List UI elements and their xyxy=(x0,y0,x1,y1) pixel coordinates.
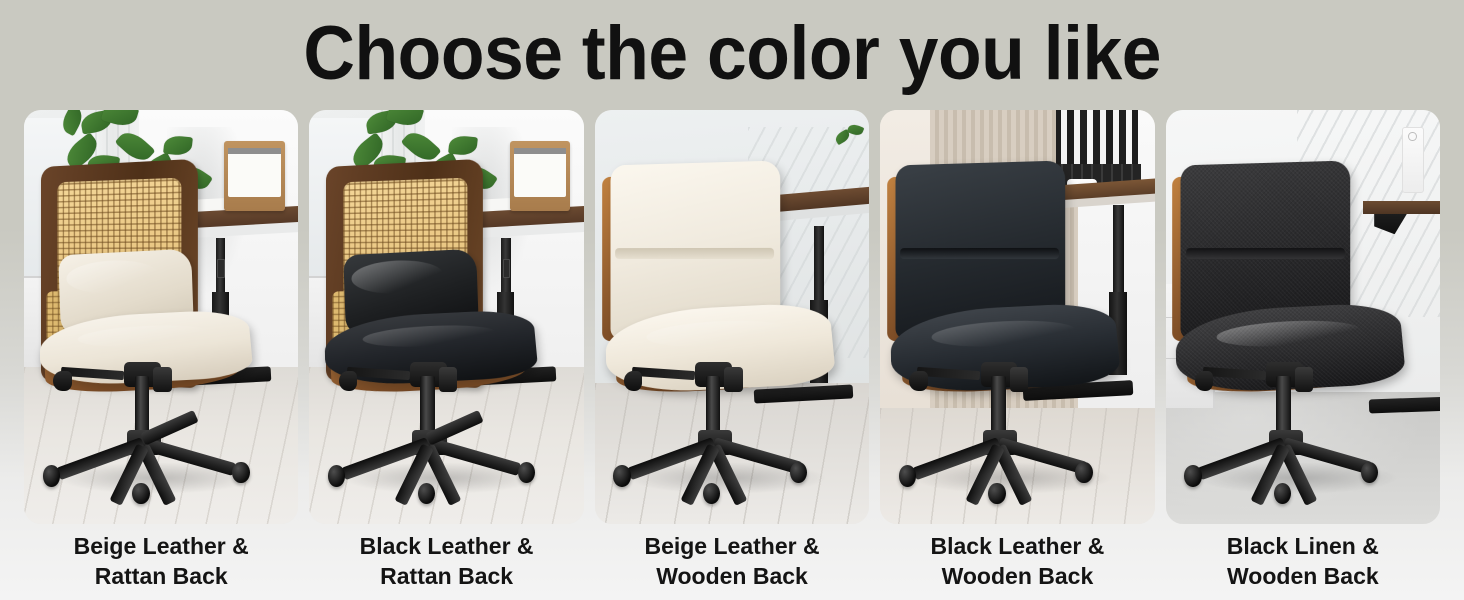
caption-line-1: Black Linen & xyxy=(1227,532,1379,560)
desk-calendar-bar xyxy=(228,148,280,154)
color-variant-grid: Beige Leather & Rattan Back xyxy=(24,110,1440,594)
product-photo-black-leather-rattan-back[interactable] xyxy=(309,110,583,524)
variant-card-black-leather-rattan-back[interactable]: Black Leather & Rattan Back xyxy=(309,110,583,594)
product-photo-beige-leather-wooden-back[interactable] xyxy=(595,110,869,524)
tilt-knob[interactable] xyxy=(439,367,457,392)
backrest-seam xyxy=(900,248,1059,259)
office-chair-black-leather-rattan-back[interactable] xyxy=(315,156,578,512)
chair-floor-shadow xyxy=(56,462,256,494)
caption-line-1: Black Leather & xyxy=(930,532,1104,560)
lever-knob[interactable] xyxy=(339,371,357,391)
lever-knob[interactable] xyxy=(624,371,642,391)
product-photo-black-leather-wooden-back[interactable] xyxy=(880,110,1154,524)
office-chair-beige-leather-wooden-back[interactable] xyxy=(600,156,863,512)
product-photo-beige-leather-rattan-back[interactable] xyxy=(24,110,298,524)
variant-caption: Black Leather & Rattan Back xyxy=(309,524,583,594)
caption-line-1: Beige Leather & xyxy=(74,532,249,560)
lever-knob[interactable] xyxy=(1195,371,1213,391)
tilt-knob[interactable] xyxy=(153,367,171,392)
chair-floor-shadow xyxy=(341,462,541,494)
chair-floor-shadow xyxy=(912,462,1112,494)
variant-caption: Beige Leather & Rattan Back xyxy=(24,524,298,594)
caption-line-2: Wooden Back xyxy=(942,562,1094,590)
variant-caption: Black Linen & Wooden Back xyxy=(1166,524,1440,594)
office-chair-beige-leather-rattan-back[interactable] xyxy=(29,156,292,512)
caption-line-2: Rattan Back xyxy=(95,562,228,590)
tilt-knob[interactable] xyxy=(1010,367,1028,392)
lever-knob[interactable] xyxy=(53,371,71,391)
tilt-knob[interactable] xyxy=(1295,367,1313,392)
backrest-seam xyxy=(1186,248,1345,259)
page-title: Choose the color you like xyxy=(303,16,1161,92)
header-banner: Choose the color you like xyxy=(0,0,1464,108)
product-photo-black-linen-wooden-back[interactable] xyxy=(1166,110,1440,524)
office-chair-black-leather-wooden-back[interactable] xyxy=(886,156,1149,512)
caption-line-1: Beige Leather & xyxy=(644,532,819,560)
lever-knob[interactable] xyxy=(909,371,927,391)
desk-calendar-bar xyxy=(514,148,566,154)
tilt-knob[interactable] xyxy=(724,367,742,392)
variant-card-beige-leather-wooden-back[interactable]: Beige Leather & Wooden Back xyxy=(595,110,869,594)
backrest-seam xyxy=(615,248,774,259)
variant-caption: Beige Leather & Wooden Back xyxy=(595,524,869,594)
variant-card-beige-leather-rattan-back[interactable]: Beige Leather & Rattan Back xyxy=(24,110,298,594)
variant-card-black-leather-wooden-back[interactable]: Black Leather & Wooden Back xyxy=(880,110,1154,594)
chair-floor-shadow xyxy=(627,462,827,494)
caption-line-2: Wooden Back xyxy=(1227,562,1379,590)
chair-floor-shadow xyxy=(1197,462,1397,494)
variant-card-black-linen-wooden-back[interactable]: Black Linen & Wooden Back xyxy=(1166,110,1440,594)
variant-caption: Black Leather & Wooden Back xyxy=(880,524,1154,594)
caption-line-1: Black Leather & xyxy=(360,532,534,560)
caption-line-2: Wooden Back xyxy=(656,562,808,590)
caption-line-2: Rattan Back xyxy=(380,562,513,590)
office-chair-black-linen-wooden-back[interactable] xyxy=(1171,156,1434,512)
